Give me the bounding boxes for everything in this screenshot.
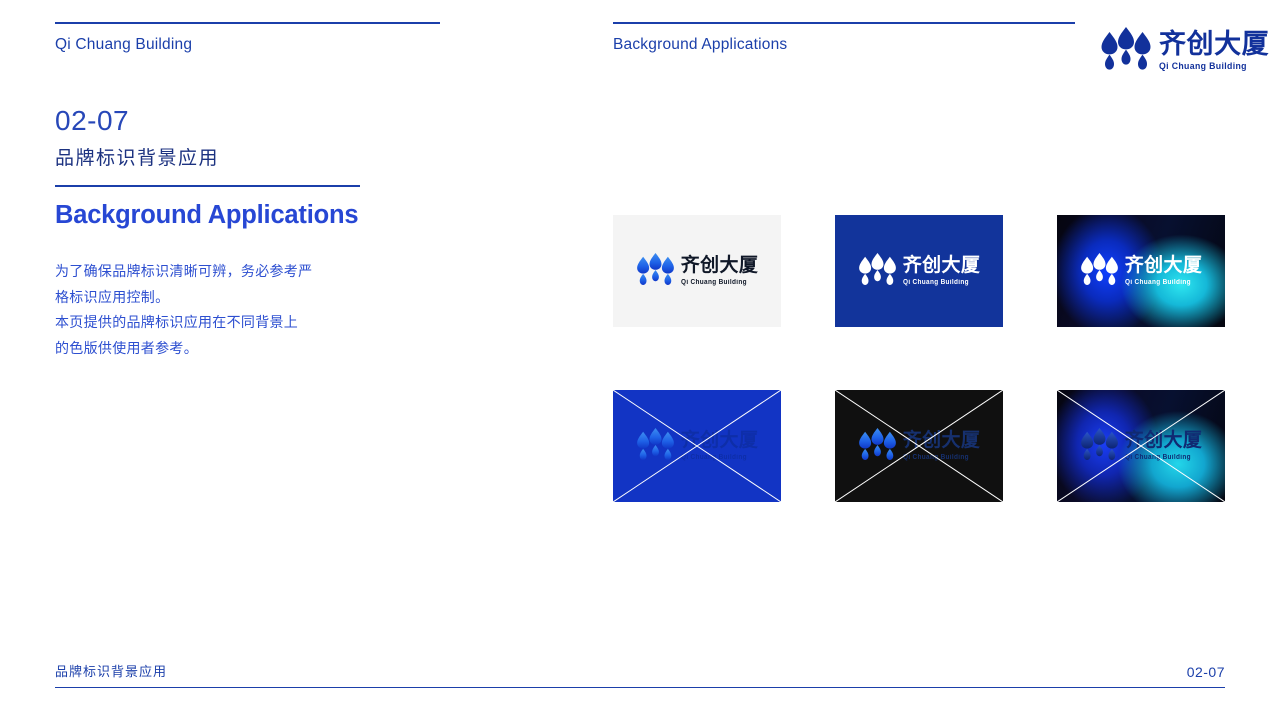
- footer-section-label: 品牌标识背景应用: [55, 661, 167, 680]
- footer-rule: [55, 687, 1225, 689]
- logo-lockup: 齐创大厦Qi Chuang Building: [636, 251, 759, 291]
- swatch-gradient-dark[interactable]: 齐创大厦Qi Chuang Building: [1057, 215, 1225, 327]
- footer-row: 品牌标识背景应用 02-07: [55, 661, 1225, 687]
- page-footer: 品牌标识背景应用 02-07: [55, 661, 1225, 689]
- swatch-black-invalid[interactable]: 齐创大厦Qi Chuang Building: [835, 390, 1003, 502]
- swatch-logo-lockup: 齐创大厦Qi Chuang Building: [835, 215, 1003, 327]
- swatch-logo-lockup: 齐创大厦Qi Chuang Building: [1057, 390, 1225, 502]
- header-brand-label: Qi Chuang Building: [55, 36, 440, 54]
- swatch-solid-blue[interactable]: 齐创大厦Qi Chuang Building: [835, 215, 1003, 327]
- swatch-royal-blue-invalid[interactable]: 齐创大厦Qi Chuang Building: [613, 390, 781, 502]
- header-section-label: Background Applications: [613, 36, 1075, 54]
- water-droplet-trio-icon: [858, 426, 897, 466]
- section-title-chinese: 品牌标识背景应用: [55, 147, 395, 172]
- logo-english-name: Qi Chuang Building: [681, 279, 752, 286]
- logo-english-name: Qi Chuang Building: [681, 454, 752, 461]
- swatch-logo-lockup: 齐创大厦Qi Chuang Building: [835, 390, 1003, 502]
- logo-english-name: Qi Chuang Building: [903, 454, 974, 461]
- water-droplet-trio-icon: [858, 251, 897, 291]
- header-rule-right: [613, 22, 1075, 24]
- header-left-group: Qi Chuang Building: [55, 22, 440, 54]
- header-logo: 齐创大厦 Qi Chuang Building: [1100, 26, 1269, 76]
- body-copy: 为了确保品牌标识清晰可辨，务必参考严 格标识应用控制。 本页提供的品牌标识应用在…: [55, 259, 385, 361]
- header-rule-left: [55, 22, 440, 24]
- water-droplet-trio-icon: [636, 251, 675, 291]
- logo-lockup: 齐创大厦Qi Chuang Building: [1080, 426, 1203, 466]
- logo-lockup: 齐创大厦Qi Chuang Building: [858, 426, 981, 466]
- swatch-logo-text: 齐创大厦Qi Chuang Building: [903, 256, 981, 286]
- header-right-group: Background Applications: [613, 22, 1075, 54]
- background-application-grid: 齐创大厦Qi Chuang Building齐创大厦Qi Chuang Buil…: [613, 215, 1229, 502]
- logo-english-name: Qi Chuang Building: [1125, 279, 1196, 286]
- water-droplet-trio-icon: [1080, 251, 1119, 291]
- swatch-logo-text: 齐创大厦Qi Chuang Building: [1125, 256, 1203, 286]
- swatch-light-gray[interactable]: 齐创大厦Qi Chuang Building: [613, 215, 781, 327]
- swatch-logo-lockup: 齐创大厦Qi Chuang Building: [1057, 215, 1225, 327]
- body-line-1: 为了确保品牌标识清晰可辨，务必参考严: [55, 259, 385, 284]
- swatch-logo-text: 齐创大厦Qi Chuang Building: [1125, 431, 1203, 461]
- logo-english-name: Qi Chuang Building: [1125, 454, 1196, 461]
- logo-chinese-name: 齐创大厦: [1159, 31, 1269, 58]
- logo-lockup: 齐创大厦Qi Chuang Building: [636, 426, 759, 466]
- logo-english-name: Qi Chuang Building: [1159, 62, 1260, 72]
- body-line-2: 格标识应用控制。: [55, 285, 385, 310]
- body-line-4: 的色版供使用者参考。: [55, 336, 385, 361]
- logo-chinese-name: 齐创大厦: [1125, 256, 1203, 275]
- swatch-logo-text: 齐创大厦Qi Chuang Building: [681, 431, 759, 461]
- water-droplet-trio-icon: [1080, 426, 1119, 466]
- section-title-english: Background Applications: [55, 201, 395, 230]
- swatch-logo-lockup: 齐创大厦Qi Chuang Building: [613, 390, 781, 502]
- swatch-logo-text: 齐创大厦Qi Chuang Building: [903, 431, 981, 461]
- logo-chinese-name: 齐创大厦: [681, 256, 759, 275]
- title-divider-rule: [55, 185, 360, 187]
- logo-english-name: Qi Chuang Building: [903, 279, 974, 286]
- logo-chinese-name: 齐创大厦: [903, 256, 981, 275]
- page-header: Qi Chuang Building Background Applicatio…: [0, 0, 1280, 90]
- logo-chinese-name: 齐创大厦: [681, 431, 759, 450]
- swatch-logo-text: 齐创大厦Qi Chuang Building: [681, 256, 759, 286]
- footer-page-number: 02-07: [1187, 664, 1225, 680]
- left-content-column: 02-07 品牌标识背景应用 Background Applications 为…: [55, 104, 395, 361]
- logo-lockup: 齐创大厦Qi Chuang Building: [1080, 251, 1203, 291]
- section-number: 02-07: [55, 104, 395, 138]
- logo-chinese-name: 齐创大厦: [903, 431, 981, 450]
- body-line-3: 本页提供的品牌标识应用在不同背景上: [55, 310, 385, 335]
- water-droplet-trio-icon: [636, 426, 675, 466]
- logo-lockup: 齐创大厦Qi Chuang Building: [858, 251, 981, 291]
- header-logo-text: 齐创大厦 Qi Chuang Building: [1159, 31, 1269, 72]
- swatch-gradient-invalid[interactable]: 齐创大厦Qi Chuang Building: [1057, 390, 1225, 502]
- swatch-logo-lockup: 齐创大厦Qi Chuang Building: [613, 215, 781, 327]
- water-droplet-trio-icon: [1100, 26, 1152, 76]
- logo-chinese-name: 齐创大厦: [1125, 431, 1203, 450]
